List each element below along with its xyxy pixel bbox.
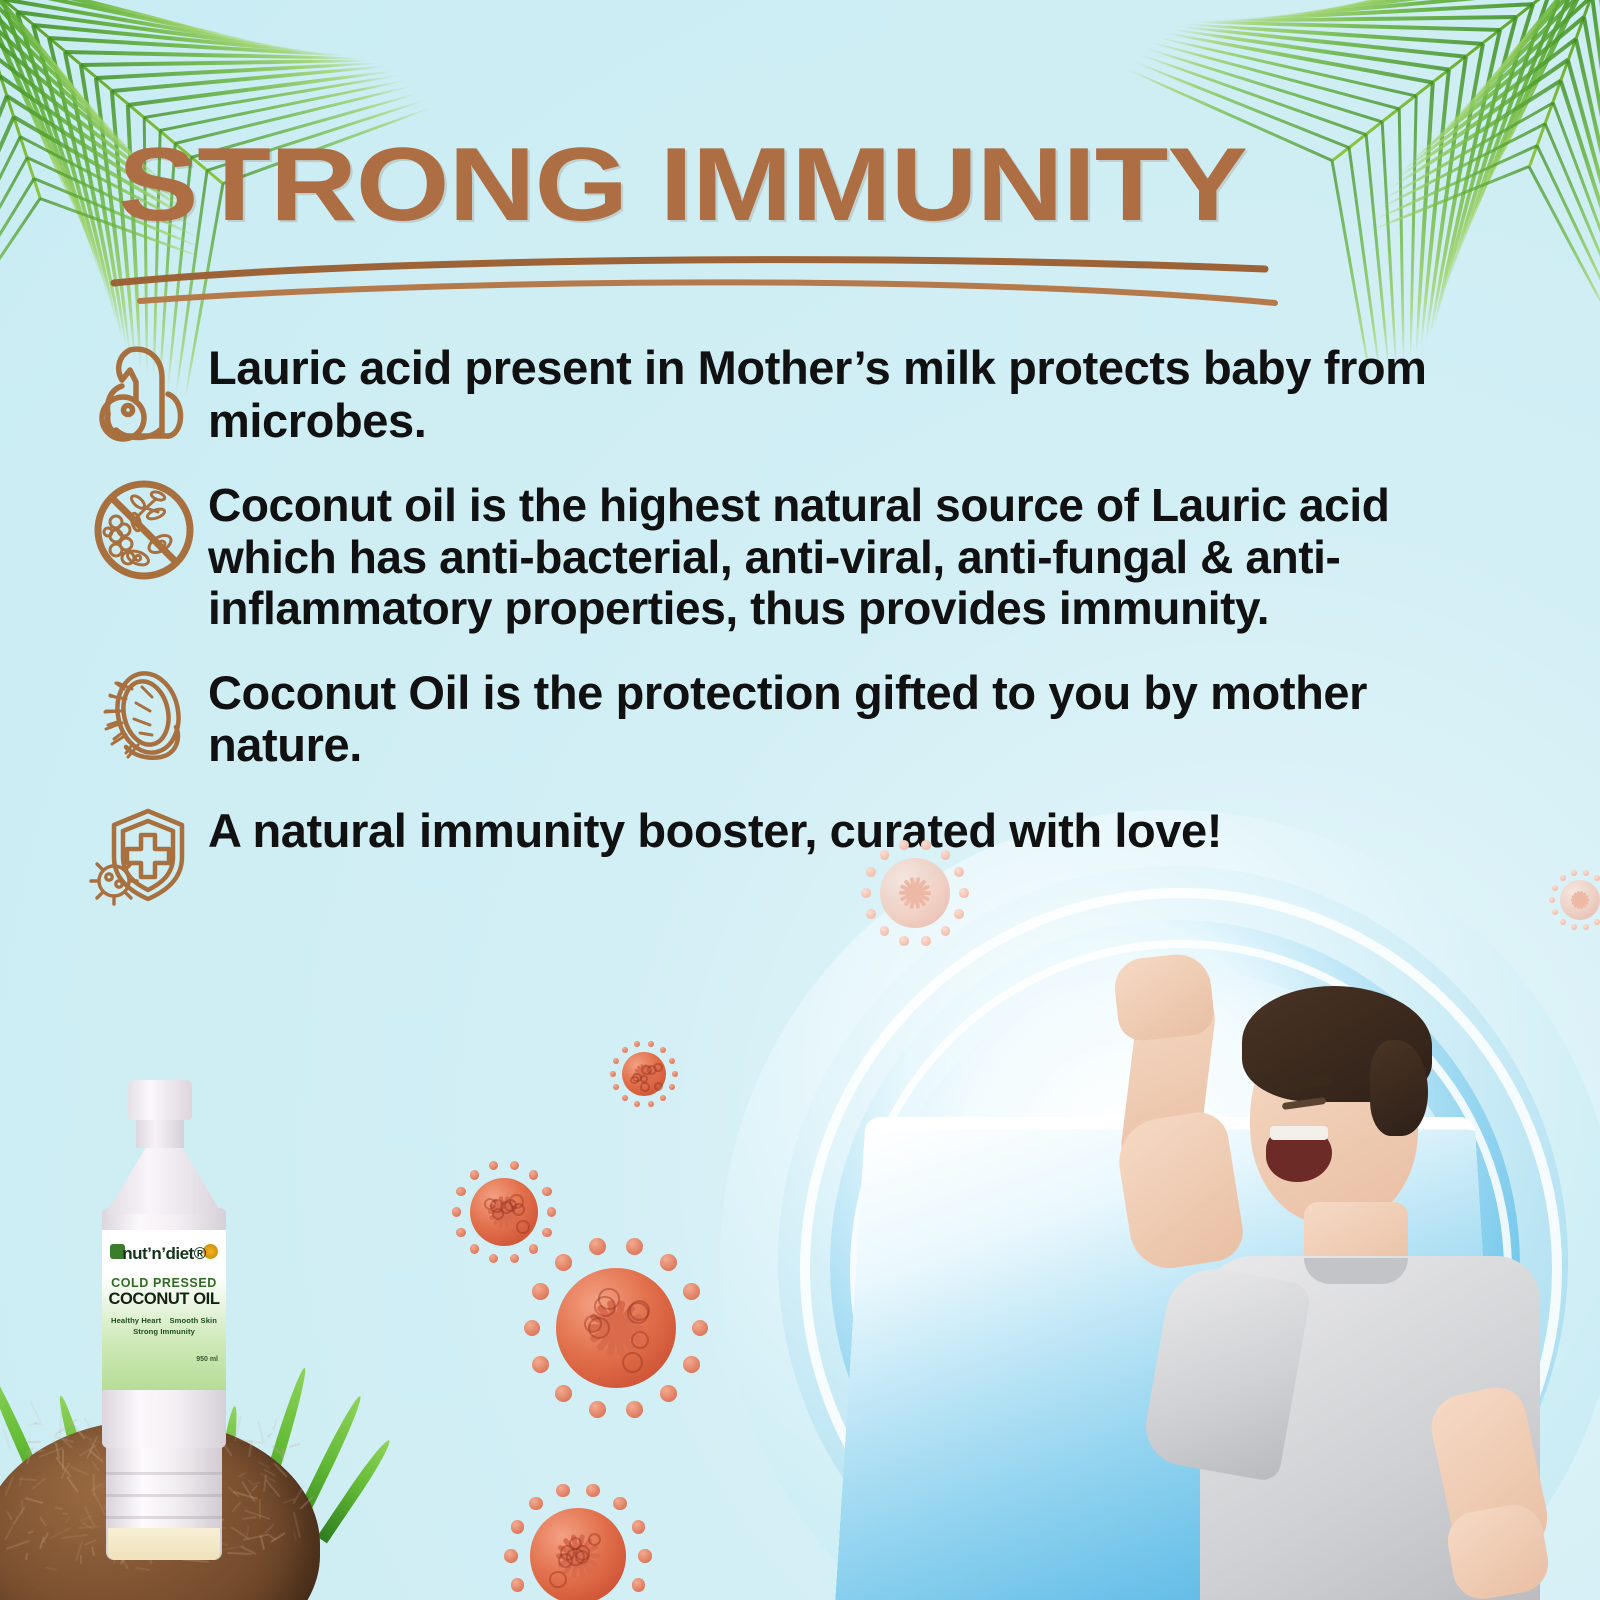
list-item-text: Coconut oil is the highest natural sourc…: [208, 474, 1486, 635]
virus-particle: [622, 1052, 666, 1096]
product-volume: 950 ml: [196, 1356, 218, 1363]
bottle-cap: [128, 1080, 192, 1120]
hero-man-flexing: [1090, 920, 1600, 1600]
mother-and-baby-icon: [86, 336, 208, 448]
product-descriptor: COLD PRESSED: [102, 1276, 226, 1290]
list-item: Lauric acid present in Mother’s milk pro…: [86, 336, 1486, 448]
list-item: Coconut Oil is the protection gifted to …: [86, 661, 1486, 773]
no-bacteria-icon: [86, 474, 208, 586]
coconut-half-icon: [86, 661, 208, 773]
virus-particle: [1560, 880, 1600, 920]
title-underline-swoosh: [110, 245, 1280, 315]
benefit-2: Smooth Skin: [169, 1316, 217, 1325]
product-benefits: Healthy Heart Smooth Skin Strong Immunit…: [102, 1316, 226, 1336]
list-item-text: Lauric acid present in Mother’s milk pro…: [208, 336, 1486, 447]
list-item-text: A natural immunity booster, curated with…: [208, 799, 1222, 858]
list-item: A natural immunity booster, curated with…: [86, 799, 1486, 911]
virus-particle: [470, 1178, 538, 1246]
poster-canvas: STRONG IMMUNITY: [0, 0, 1600, 1600]
shield-cross-virus-icon: [86, 799, 208, 911]
benefit-1: Healthy Heart: [111, 1316, 161, 1325]
product-name: COCONUT OIL: [102, 1290, 226, 1309]
virus-particle: [530, 1508, 626, 1600]
brand-name: nut’n’diet®: [102, 1244, 226, 1264]
product-label: nut’n’diet® COLD PRESSED COCONUT OIL Hea…: [102, 1230, 226, 1390]
list-item: Coconut oil is the highest natural sourc…: [86, 474, 1486, 635]
virus-particle: [880, 858, 950, 928]
list-item-text: Coconut Oil is the protection gifted to …: [208, 661, 1486, 772]
product-bottle: nut’n’diet® COLD PRESSED COCONUT OIL Hea…: [96, 1080, 232, 1580]
page-title: STRONG IMMUNITY: [118, 126, 1247, 245]
benefit-list: Lauric acid present in Mother’s milk pro…: [86, 336, 1486, 937]
virus-particle: [556, 1268, 676, 1388]
benefit-3: Strong Immunity: [105, 1327, 223, 1336]
